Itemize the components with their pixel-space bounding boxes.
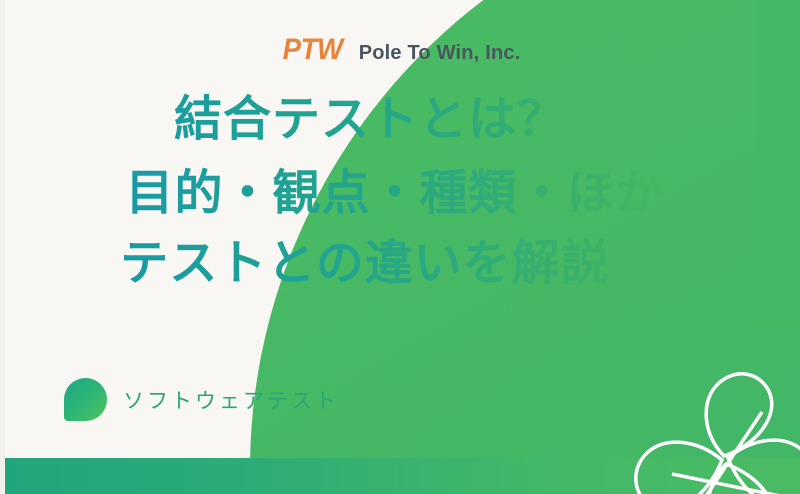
category-label: ソフトウェアテスト bbox=[123, 385, 339, 415]
headline-line-1: 結合テストとは？ bbox=[0, 88, 800, 152]
green-bottom-bar bbox=[0, 458, 800, 494]
category-tag: ソフトウェアテスト bbox=[64, 378, 339, 421]
headline-line-2: 目的・観点・種類・ほか bbox=[0, 162, 800, 226]
ptw-logo: PTW Pole To Win, Inc. bbox=[0, 33, 800, 67]
headline-block: 結合テストとは？ 目的・観点・種類・ほか テストとの違いを解説 bbox=[0, 88, 800, 295]
headline-line-3: テストとの違いを解説 bbox=[0, 232, 800, 296]
thumbnail-canvas: PTW Pole To Win, Inc. 結合テストとは？ 目的・観点・種類・… bbox=[0, 0, 800, 494]
leaf-bubble-icon bbox=[64, 378, 107, 421]
ptw-company-name: Pole To Win, Inc. bbox=[359, 42, 521, 65]
ptw-logo-mark: PTW bbox=[282, 33, 342, 67]
